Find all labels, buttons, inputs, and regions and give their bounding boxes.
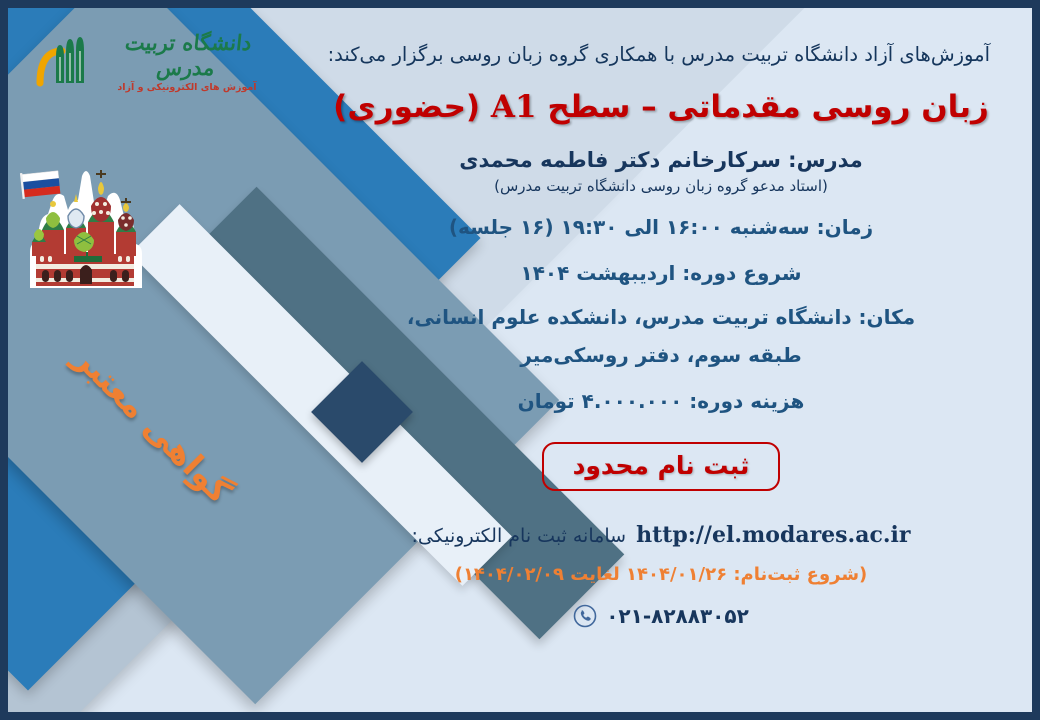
instructor-name: مدرس: سرکارخانم دکتر فاطمه محمدی — [312, 148, 1010, 172]
registration-portal-label: سامانه ثبت نام الکترونیکی: — [412, 525, 627, 547]
registration-url[interactable]: http://el.modares.ac.ir — [636, 522, 910, 548]
course-time: زمان: سه‌شنبه ۱۶:۰۰ الی ۱۹:۳۰ (۱۶ جلسه) — [312, 214, 1010, 241]
instructor-affiliation: (استاد مدعو گروه زبان روسی دانشگاه تربیت… — [312, 177, 1010, 195]
registration-dates: (شروع ثبت‌نام: ۱۴۰۴/۰۱/۲۶ لغایت ۱۴۰۴/۰۲/… — [312, 564, 1010, 585]
poster-content: آموزش‌های آزاد دانشگاه تربیت مدرس با همک… — [312, 8, 1032, 712]
university-emblem-icon — [36, 35, 92, 87]
logo-university-name: دانشگاه تربیت مدرس — [95, 30, 278, 80]
course-start-date: شروع دوره: اردیبهشت ۱۴۰۴ — [312, 260, 1010, 287]
course-location-line2: طبقه سوم، دفتر روسکی‌میر — [312, 342, 1010, 369]
registration-portal: http://el.modares.ac.ir سامانه ثبت نام ا… — [312, 522, 1010, 548]
poster-canvas: گواهی معتبر — [8, 8, 1032, 712]
course-fee: هزینه دوره: ۴.۰۰۰.۰۰۰ تومان — [312, 388, 1010, 415]
course-location: مکان: دانشگاه تربیت مدرس، دانشکده علوم ا… — [312, 304, 1010, 369]
contact-phone: ۰۲۱-۸۲۸۸۳۰۵۲ — [312, 604, 1010, 628]
university-logo: دانشگاه تربیت مدرس آموزش های الکترونیکی … — [36, 30, 276, 92]
course-title: زبان روسی مقدماتی – سطح A1 (حضوری) — [312, 89, 1010, 125]
logo-subtitle: آموزش های الکترونیکی و آزاد — [98, 82, 276, 93]
phone-icon — [573, 604, 597, 628]
course-mode: (حضوری) — [333, 89, 480, 125]
course-title-main: زبان روسی مقدماتی – سطح — [547, 89, 989, 125]
limited-registration-badge[interactable]: ثبت نام محدود — [542, 442, 780, 491]
course-level: A1 — [491, 89, 537, 125]
poster-frame: گواهی معتبر — [0, 0, 1040, 720]
intro-text: آموزش‌های آزاد دانشگاه تربیت مدرس با همک… — [312, 40, 1000, 69]
course-location-line1: مکان: دانشگاه تربیت مدرس، دانشکده علوم ا… — [407, 305, 915, 329]
phone-number: ۰۲۱-۸۲۸۸۳۰۵۲ — [606, 604, 749, 628]
saint-basils-cathedral-icon — [22, 166, 148, 294]
